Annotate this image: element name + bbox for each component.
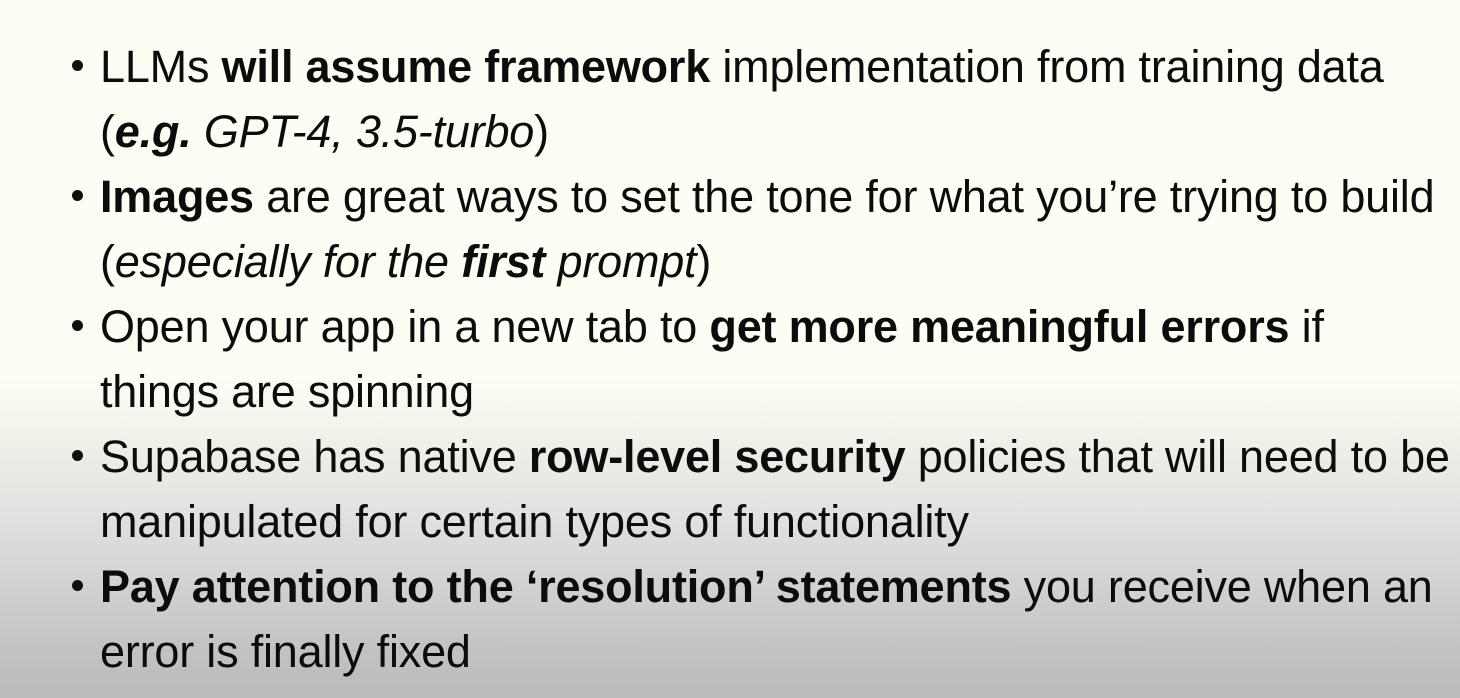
bullet-text-segment: LLMs: [100, 41, 222, 92]
bullet-text-segment: Images: [100, 171, 254, 222]
bullet-text-segment: GPT-4, 3.5-turbo: [192, 106, 535, 157]
bullet-list: LLMs will assume framework implementatio…: [0, 0, 1460, 684]
bullet-point-icon: [72, 60, 83, 71]
bullet-text-segment: row-level security: [529, 431, 906, 482]
bullet-open-app-new-tab: Open your app in a new tab to get more m…: [72, 294, 1450, 424]
bullet-text-segment: prompt: [545, 236, 696, 287]
bullet-text-segment: e.g.: [115, 106, 192, 157]
bullet-text-segment: Supabase has native: [100, 431, 529, 482]
bullet-text-segment: will assume framework: [222, 41, 711, 92]
bullet-text-segment: first: [461, 236, 545, 287]
bullet-llms-assume-framework: LLMs will assume framework implementatio…: [72, 34, 1450, 164]
bullet-point-icon: [72, 190, 83, 201]
bullet-point-icon: [72, 580, 83, 591]
bullet-text-segment: Open your app in a new tab to: [100, 301, 709, 352]
bullet-text-segment: ): [534, 106, 549, 157]
bullet-point-icon: [72, 320, 83, 331]
slide-canvas: LLMs will assume framework implementatio…: [0, 0, 1460, 698]
bullet-point-icon: [72, 450, 83, 461]
bullet-text-segment: get more meaningful errors: [709, 301, 1289, 352]
bullet-text-segment: especially for the: [115, 236, 461, 287]
bullet-supabase-rls: Supabase has native row-level security p…: [72, 424, 1450, 554]
bullet-text-segment: ): [696, 236, 711, 287]
bullet-images-set-tone: Images are great ways to set the tone fo…: [72, 164, 1450, 294]
bullet-text-segment: Pay attention to the ‘resolution’ statem…: [100, 561, 1011, 612]
bullet-resolution-statements: Pay attention to the ‘resolution’ statem…: [72, 554, 1450, 684]
